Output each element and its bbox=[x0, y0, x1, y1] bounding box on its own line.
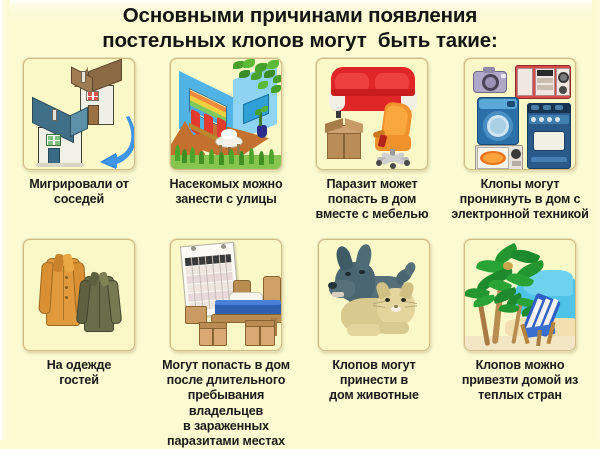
cause-cell-brought-by-animals[interactable]: Клопов могут принести в дом животные bbox=[304, 239, 444, 404]
cause-cell-on-guest-clothes[interactable]: На одежде гостей bbox=[8, 239, 150, 388]
cause-cell-from-warm-countries[interactable]: Клопов можно привезти домой из теплых ст… bbox=[447, 239, 593, 404]
page-right-edge-highlight bbox=[592, 0, 600, 440]
illustration-calendar-bed-and-boxes bbox=[170, 239, 282, 351]
cause-cell-migrated-from-neighbours[interactable]: Мигрировали от соседей bbox=[8, 58, 150, 207]
cause-cell-brought-from-street[interactable]: Насекомых можно занести с улицы bbox=[155, 58, 297, 207]
cell-caption: Мигрировали от соседей bbox=[8, 177, 150, 207]
cell-caption: Клопов могут принести в дом животные bbox=[304, 358, 444, 404]
cell-caption: На одежде гостей bbox=[8, 358, 150, 388]
cell-caption: Паразит может попасть в дом вместе с меб… bbox=[301, 177, 443, 223]
blue-arrow-icon bbox=[82, 113, 135, 169]
illustration-home-electronics-appliances bbox=[464, 58, 576, 170]
illustration-coat-and-jacket-clothing bbox=[23, 239, 135, 351]
cell-caption: Могут попасть в дом после длительного пр… bbox=[150, 358, 302, 449]
illustration-isometric-room-with-street-plants bbox=[170, 58, 282, 170]
cause-cell-with-electronics[interactable]: Клопы могут проникнуть в дом с электронн… bbox=[447, 58, 593, 223]
page-title: Основными причинами появления постельных… bbox=[0, 3, 600, 53]
cell-caption: Клопы могут проникнуть в дом с электронн… bbox=[447, 177, 593, 223]
illustration-red-sofa-box-office-chair bbox=[316, 58, 428, 170]
cause-cell-long-stay-infested-places[interactable]: Могут попасть в дом после длительного пр… bbox=[150, 239, 302, 449]
infographic-page: Основными причинами появления постельных… bbox=[0, 0, 600, 440]
illustration-dog-and-cat-pets bbox=[318, 239, 430, 351]
cell-caption: Насекомых можно занести с улицы bbox=[155, 177, 297, 207]
page-title-line-2: постельных клопов могут быть такие: bbox=[0, 28, 600, 53]
cell-caption: Клопов можно привезти домой из теплых ст… bbox=[447, 358, 593, 404]
cause-cell-with-furniture[interactable]: Паразит может попасть в дом вместе с меб… bbox=[301, 58, 443, 223]
illustration-palm-trees-beach-deck-chair bbox=[464, 239, 576, 351]
page-title-line-1: Основными причинами появления bbox=[0, 3, 600, 28]
illustration-two-houses-with-arrow bbox=[23, 58, 135, 170]
